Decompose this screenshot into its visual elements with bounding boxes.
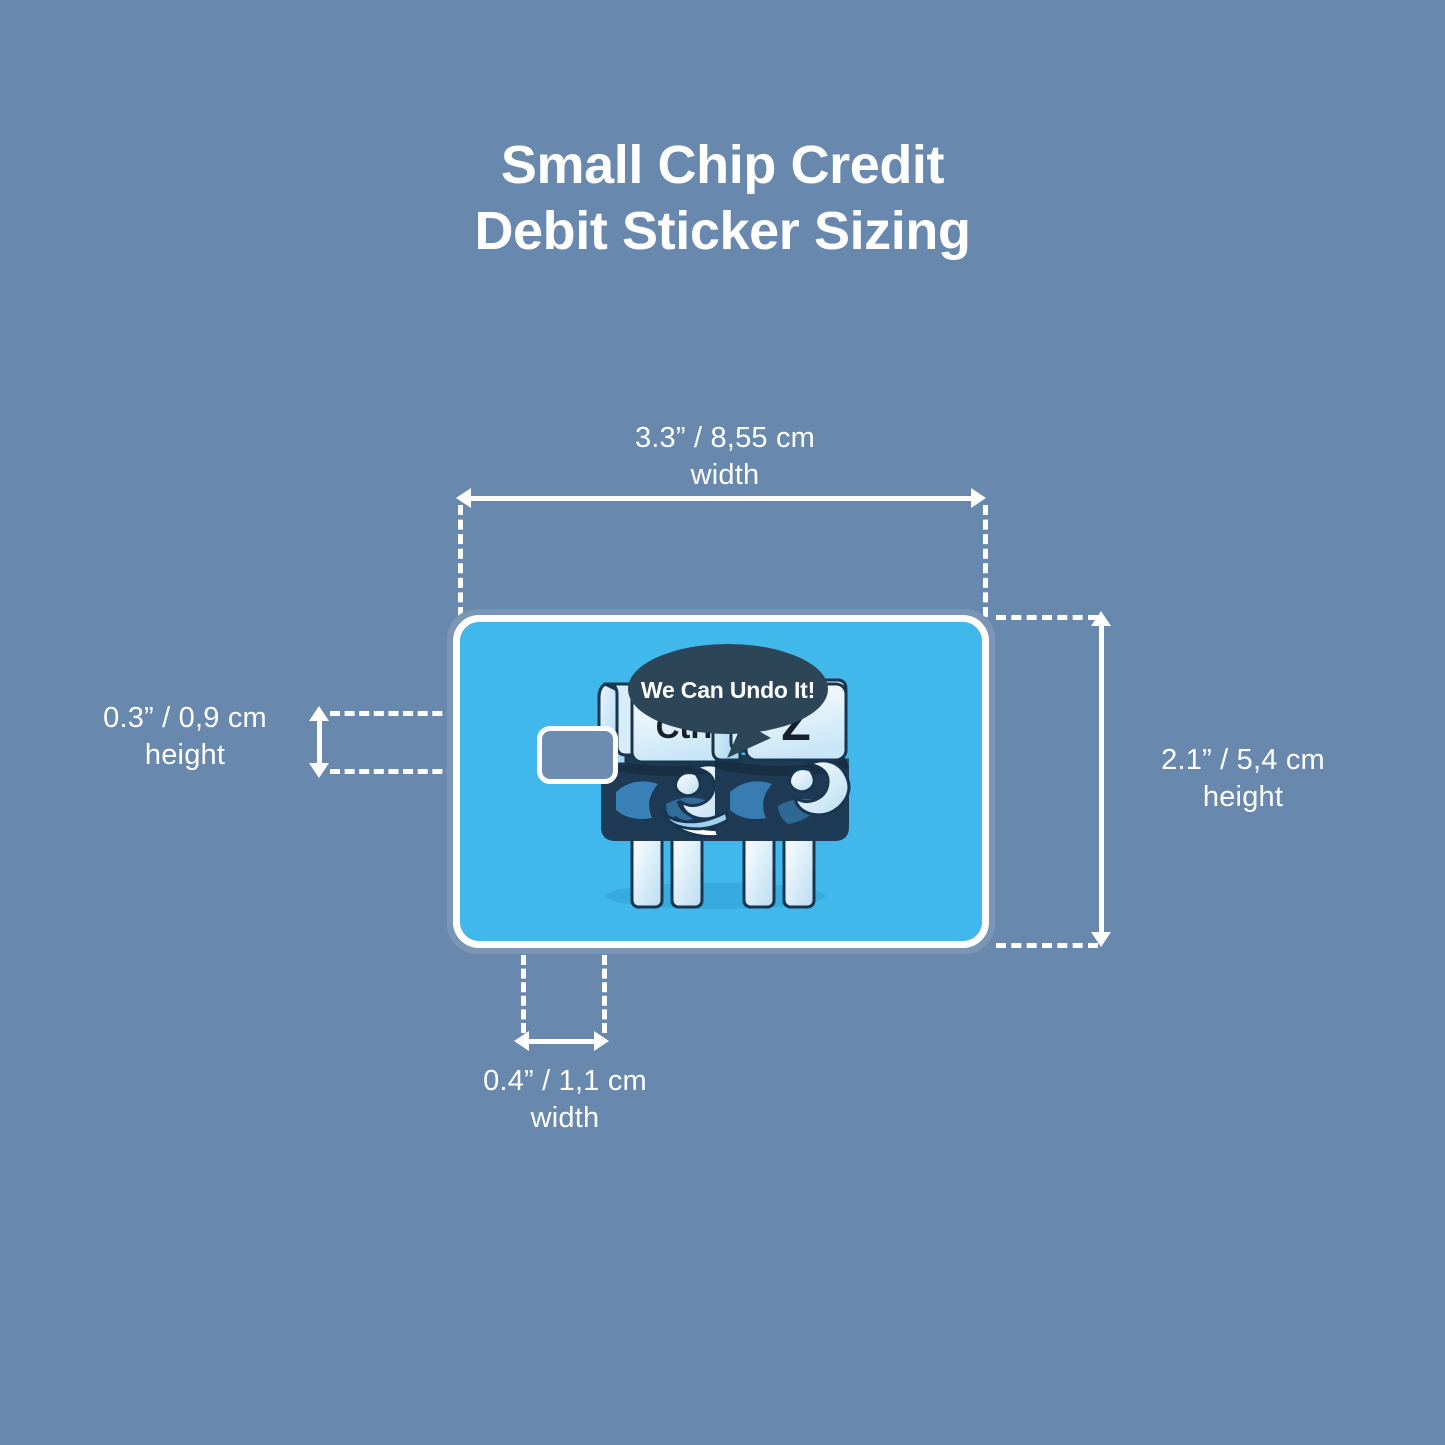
arrow-head-down-icon — [1091, 932, 1111, 947]
dimension-value-chip-height: 0.3” / 0,9 cm — [103, 702, 267, 734]
speech-bubble-text: We Can Undo It! — [641, 677, 815, 703]
arrow-shaft — [317, 715, 322, 769]
dimension-value-card-width: 3.3” / 8,55 cm — [635, 422, 815, 454]
arrow-shaft — [465, 496, 977, 501]
guide-line-card-top — [996, 615, 1098, 620]
dimension-value-chip-width: 0.4” / 1,1 cm — [483, 1065, 647, 1097]
dimension-arrow-card-height — [1091, 611, 1111, 947]
credit-card-sticker: Ctrl — [447, 609, 995, 954]
card-artwork-ctrl-z: Ctrl — [460, 622, 982, 941]
card-face: Ctrl — [460, 622, 982, 941]
page-title-line-1: Small Chip Credit — [0, 132, 1445, 198]
dimension-label-card-height: 2.1” / 5,4 cm height — [1113, 742, 1373, 816]
dimension-label-chip-width: 0.4” / 1,1 cm width — [440, 1063, 690, 1137]
guide-line-card-bottom — [996, 943, 1098, 948]
page-title: Small Chip Credit Debit Sticker Sizing — [0, 132, 1445, 264]
emv-chip — [537, 726, 618, 784]
dimension-unit-card-height: height — [1113, 779, 1373, 816]
guide-line-chip-right — [602, 955, 607, 1033]
dimension-arrow-chip-width — [514, 1031, 609, 1051]
guide-line-card-left — [458, 505, 463, 617]
sizing-diagram: Small Chip Credit Debit Sticker Sizing 3… — [0, 0, 1445, 1445]
arrow-head-down-icon — [309, 763, 329, 778]
dimension-arrow-chip-height — [309, 706, 329, 778]
guide-line-card-right — [983, 505, 988, 617]
dimension-label-chip-height: 0.3” / 0,9 cm height — [55, 700, 315, 774]
dimension-label-card-width: 3.3” / 8,55 cm width — [520, 420, 930, 494]
guide-line-chip-left — [521, 955, 526, 1033]
arrow-head-right-icon — [594, 1031, 609, 1051]
dimension-value-card-height: 2.1” / 5,4 cm — [1161, 744, 1325, 776]
dimension-unit-chip-width: width — [440, 1100, 690, 1137]
dimension-arrow-card-width — [456, 488, 986, 508]
dimension-unit-chip-height: height — [55, 737, 315, 774]
arrow-shaft — [1099, 620, 1104, 938]
arrow-shaft — [523, 1039, 600, 1044]
page-title-line-2: Debit Sticker Sizing — [0, 198, 1445, 264]
